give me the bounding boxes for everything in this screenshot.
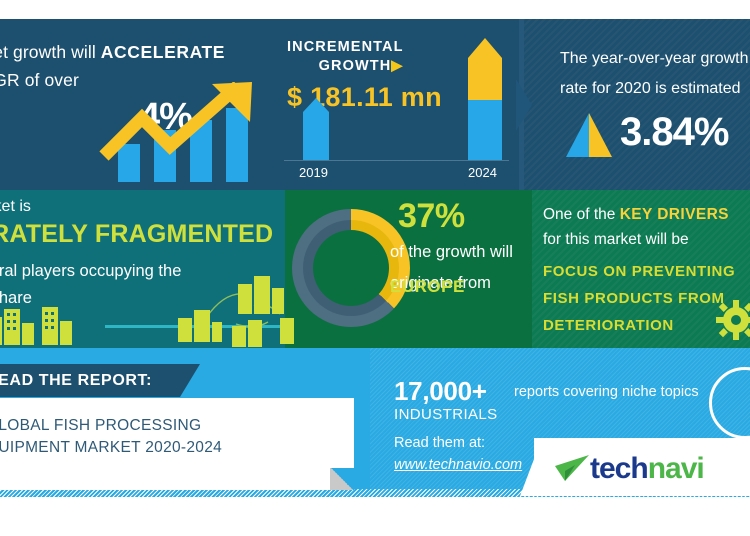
report-title-text: GLOBAL FISH PROCESSING QUIPMENT MARKET 2… xyxy=(0,415,222,459)
incremental-line2: GROWTH xyxy=(319,58,392,74)
read-tab-point xyxy=(180,364,200,397)
bar-2019-icon xyxy=(303,98,329,160)
logo-text-navi: navi xyxy=(648,452,704,485)
drivers-line1-bold: KEY DRIVERS xyxy=(620,206,729,223)
yoy-line2: rate for 2020 is estimated xyxy=(560,74,750,104)
europe-percent: 37% xyxy=(398,197,465,236)
driver-line-2: FISH PRODUCTS FROM xyxy=(543,290,725,307)
card-fold-corner-icon xyxy=(330,468,354,490)
zigzag-arrow-icon xyxy=(92,82,277,182)
city-buildings-icon-left xyxy=(0,305,88,345)
technavio-logo-text: technavi xyxy=(590,452,704,486)
incremental-baseline xyxy=(284,160,509,161)
report-count: 17,000+ xyxy=(394,376,487,407)
yoy-text: The year-over-year growth rate for 2020 … xyxy=(560,44,750,104)
logo-text-tech: tech xyxy=(590,452,648,485)
triangle-growth-icon xyxy=(566,113,612,157)
report-title-line1: GLOBAL FISH PROCESSING xyxy=(0,417,201,434)
accelerate-line2: a CAGR of over xyxy=(0,70,79,90)
report-title-line2: QUIPMENT MARKET 2020-2024 xyxy=(0,439,222,456)
fragmented-line1: market is xyxy=(0,198,31,216)
gear-icon xyxy=(716,300,750,340)
incremental-line1: INCREMENTAL xyxy=(287,39,404,55)
triangle-marker-icon: ▶ xyxy=(391,58,403,74)
donut-hole xyxy=(313,230,389,306)
fragmented-line2: DERATELY FRAGMENTED xyxy=(0,220,273,249)
technavio-url-link[interactable]: www.technavio.com xyxy=(394,457,522,473)
read-them-at-label: Read them at: xyxy=(394,435,485,451)
incremental-growth-label: INCREMENTAL GROWTH▶ xyxy=(287,38,404,76)
fragmented-line3: several players occupying the xyxy=(0,262,181,280)
bar-2024-icon xyxy=(468,38,502,160)
europe-region-label: EUROPE xyxy=(390,277,465,297)
yoy-line1: The year-over-year growth xyxy=(560,44,750,74)
driver-line-3: DETERIORATION xyxy=(543,317,674,334)
year-label-2019: 2019 xyxy=(299,165,328,180)
year-label-2024: 2024 xyxy=(468,165,497,180)
ascending-bar-chart-with-arrow-icon xyxy=(110,100,270,182)
europe-line1: of the growth will xyxy=(390,243,513,261)
yoy-value: 3.84% xyxy=(620,110,728,155)
accelerate-line1-bold: ACCELERATE xyxy=(101,42,225,62)
driver-line-1: FOCUS ON PREVENTING xyxy=(543,263,735,280)
read-the-report-label: READ THE REPORT: xyxy=(0,372,152,390)
infographic: market growth will ACCELERATE a CAGR of … xyxy=(0,0,750,536)
drivers-line2: for this market will be xyxy=(543,231,689,249)
drivers-detail: FOCUS ON PREVENTING FISH PRODUCTS FROM D… xyxy=(543,258,735,339)
drivers-line1-pre: One of the xyxy=(543,206,620,223)
chevron-right-icon xyxy=(516,79,532,131)
accelerate-line1-pre: market growth will xyxy=(0,42,101,62)
city-buildings-cluster-icon xyxy=(176,272,296,347)
report-count-subtitle: reports covering niche topics xyxy=(514,384,699,400)
drivers-line1: One of the KEY DRIVERS xyxy=(543,206,729,224)
category-label: INDUSTRIALS xyxy=(394,406,498,423)
paper-plane-icon xyxy=(555,455,589,485)
fragmented-line3-4: several players occupying the ket share xyxy=(0,258,181,312)
